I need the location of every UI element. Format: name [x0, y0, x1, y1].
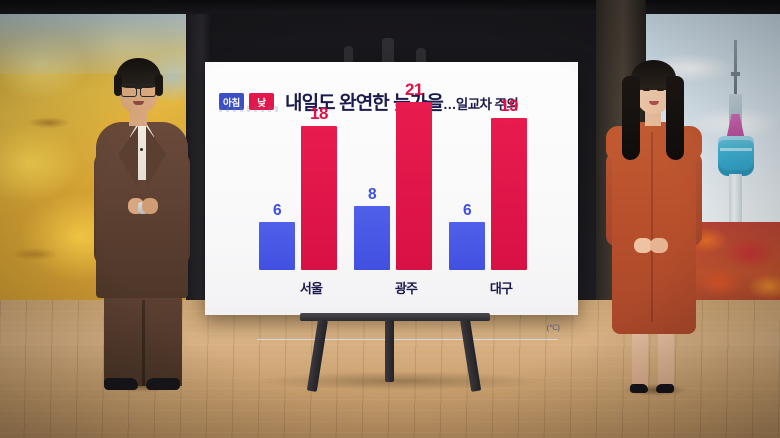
female-weathercaster-hand-right [650, 238, 668, 253]
bar-value-seoul-day: 18 [301, 104, 337, 124]
eyeglasses-icon [121, 84, 156, 95]
male-anchor-hand-right [142, 198, 158, 214]
female-weathercaster-leg-right [658, 330, 674, 388]
city-label-daegu: 대구 [449, 278, 553, 297]
bar-daegu-day [491, 118, 527, 270]
easel-leg-top-center [382, 38, 394, 64]
male-anchor-shoe-left [104, 378, 138, 390]
male-anchor-leg-split [142, 300, 145, 386]
bar-seoul-day [301, 126, 337, 270]
temperature-bar-chart: (℃) 6 18 서울 8 21 [219, 124, 568, 307]
bar-value-gwangju-day: 21 [396, 80, 432, 100]
male-anchor-lapel-mic [140, 148, 143, 151]
male-anchor-shoe-right [146, 378, 180, 390]
bar-daegu-morning [449, 222, 485, 270]
ceiling-strip [0, 0, 780, 14]
bar-group-gwangju: 8 21 광주 [354, 77, 458, 293]
bar-gwangju-morning [354, 206, 390, 270]
easel-floor-shadow [210, 368, 590, 394]
backdrop-left-sky [0, 14, 196, 74]
bar-group-daegu: 6 19 대구 [449, 77, 553, 293]
city-label-gwangju: 광주 [354, 278, 458, 297]
n-seoul-tower-icon [714, 40, 758, 230]
bar-gwangju-day [396, 102, 432, 270]
chart-unit-label: (℃) [547, 323, 560, 332]
bar-value-daegu-morning: 6 [449, 202, 485, 220]
female-weathercaster-eye-right [657, 88, 664, 91]
female-weathercaster-shoe-right [656, 384, 674, 393]
female-weathercaster-eye-left [643, 88, 650, 91]
female-weathercaster-shoe-left [630, 384, 648, 393]
weather-board[interactable]: 아침 낮 내일도 완연한 늦가을…일교차 주의 (℃) 6 18 서울 [205, 62, 578, 315]
female-weathercaster-hair-right [666, 76, 684, 160]
chart-baseline-axis [257, 339, 558, 340]
bar-value-seoul-morning: 6 [259, 202, 295, 220]
male-anchor-sideburn-right [155, 74, 163, 96]
broadcast-stage: 아침 낮 내일도 완연한 늦가을…일교차 주의 (℃) 6 18 서울 [0, 0, 780, 438]
bar-group-seoul: 6 18 서울 [259, 77, 363, 293]
bar-seoul-morning [259, 222, 295, 270]
city-label-seoul: 서울 [259, 278, 363, 297]
female-weathercaster-hair-left [622, 76, 640, 160]
female-weathercaster-leg-left [632, 330, 648, 388]
easel-leg-center [385, 320, 394, 382]
bar-value-daegu-day: 19 [491, 96, 527, 116]
bar-value-gwangju-morning: 8 [354, 186, 390, 204]
female-weathercaster-shadow [612, 382, 698, 398]
